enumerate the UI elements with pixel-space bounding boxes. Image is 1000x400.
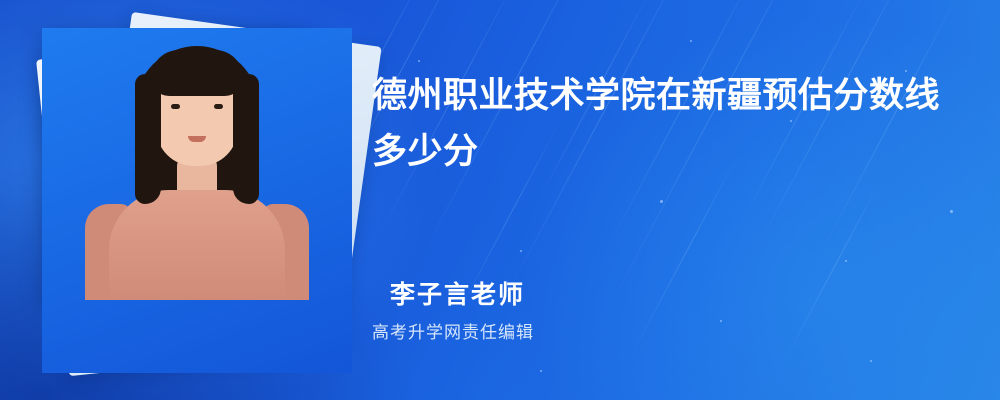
article-header-banner: 德州职业技术学院在新疆预估分数线多少分 李子言老师 高考升学网责任编辑 (0, 0, 1000, 400)
portrait-eye-left (171, 104, 180, 109)
teacher-portrait-photo (42, 28, 314, 302)
portrait-eye-right (214, 104, 223, 109)
page-title: 德州职业技术学院在新疆预估分数线多少分 (372, 68, 952, 180)
photo-card-stack (42, 28, 352, 373)
author-role: 高考升学网责任编辑 (372, 318, 534, 343)
author-name: 李子言老师 (390, 275, 525, 311)
banner-text-block: 德州职业技术学院在新疆预估分数线多少分 李子言老师 高考升学网责任编辑 (372, 0, 972, 400)
portrait-torso (109, 190, 285, 300)
portrait-hair-fringe (151, 50, 243, 96)
portrait-hair-right (233, 74, 259, 204)
portrait-hair-left (135, 74, 161, 204)
